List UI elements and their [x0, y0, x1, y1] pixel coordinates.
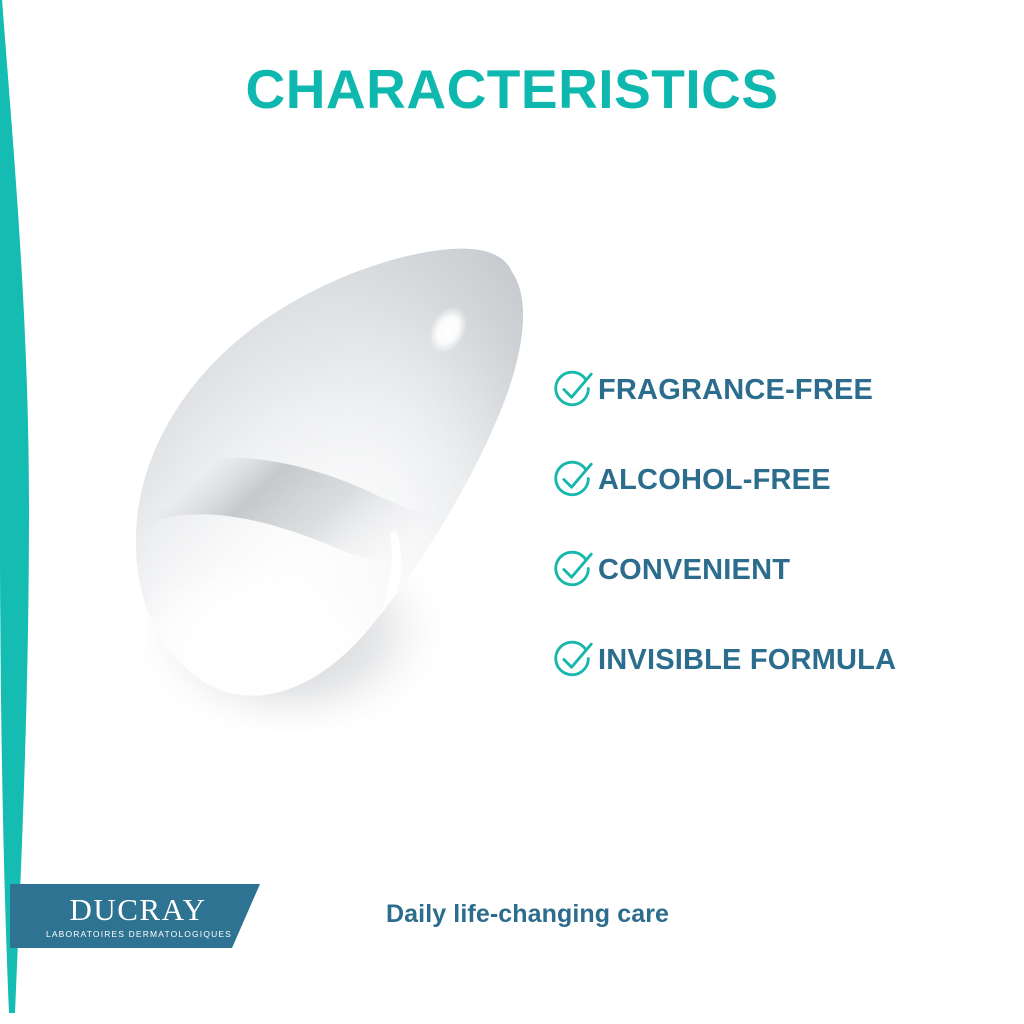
page-title: CHARACTERISTICS — [0, 57, 1024, 121]
feature-item-alcohol-free: ALCOHOL-FREE — [550, 454, 980, 506]
feature-item-fragrance-free: FRAGRANCE-FREE — [550, 364, 980, 416]
ducray-logo: DUCRAY LABORATOIRES DERMATOLOGIQUES — [10, 884, 260, 948]
logo-subtitle: LABORATOIRES DERMATOLOGIQUES — [46, 930, 232, 939]
feature-label: CONVENIENT — [598, 556, 790, 585]
clear-gel-droplet — [100, 230, 560, 730]
droplet-illustration — [100, 230, 560, 730]
teal-crescent-shape — [0, 0, 80, 1024]
logo-brand-name: DUCRAY — [69, 894, 206, 925]
feature-label: ALCOHOL-FREE — [598, 466, 831, 495]
check-circle-icon — [550, 457, 596, 503]
footer-tagline: Daily life-changing care — [386, 902, 669, 927]
check-circle-icon — [550, 367, 596, 413]
feature-item-convenient: CONVENIENT — [550, 544, 980, 596]
check-circle-icon — [550, 637, 596, 683]
feature-list: FRAGRANCE-FREE ALCOHOL-FREE CONVENIENT I… — [550, 364, 980, 686]
check-circle-icon — [550, 547, 596, 593]
feature-label: INVISIBLE FORMULA — [598, 646, 896, 675]
product-characteristics-card: CHARACTERISTICS — [0, 0, 1024, 1024]
teal-crescent-accent — [0, 0, 80, 1024]
feature-label: FRAGRANCE-FREE — [598, 376, 873, 405]
feature-item-invisible-formula: INVISIBLE FORMULA — [550, 634, 980, 686]
